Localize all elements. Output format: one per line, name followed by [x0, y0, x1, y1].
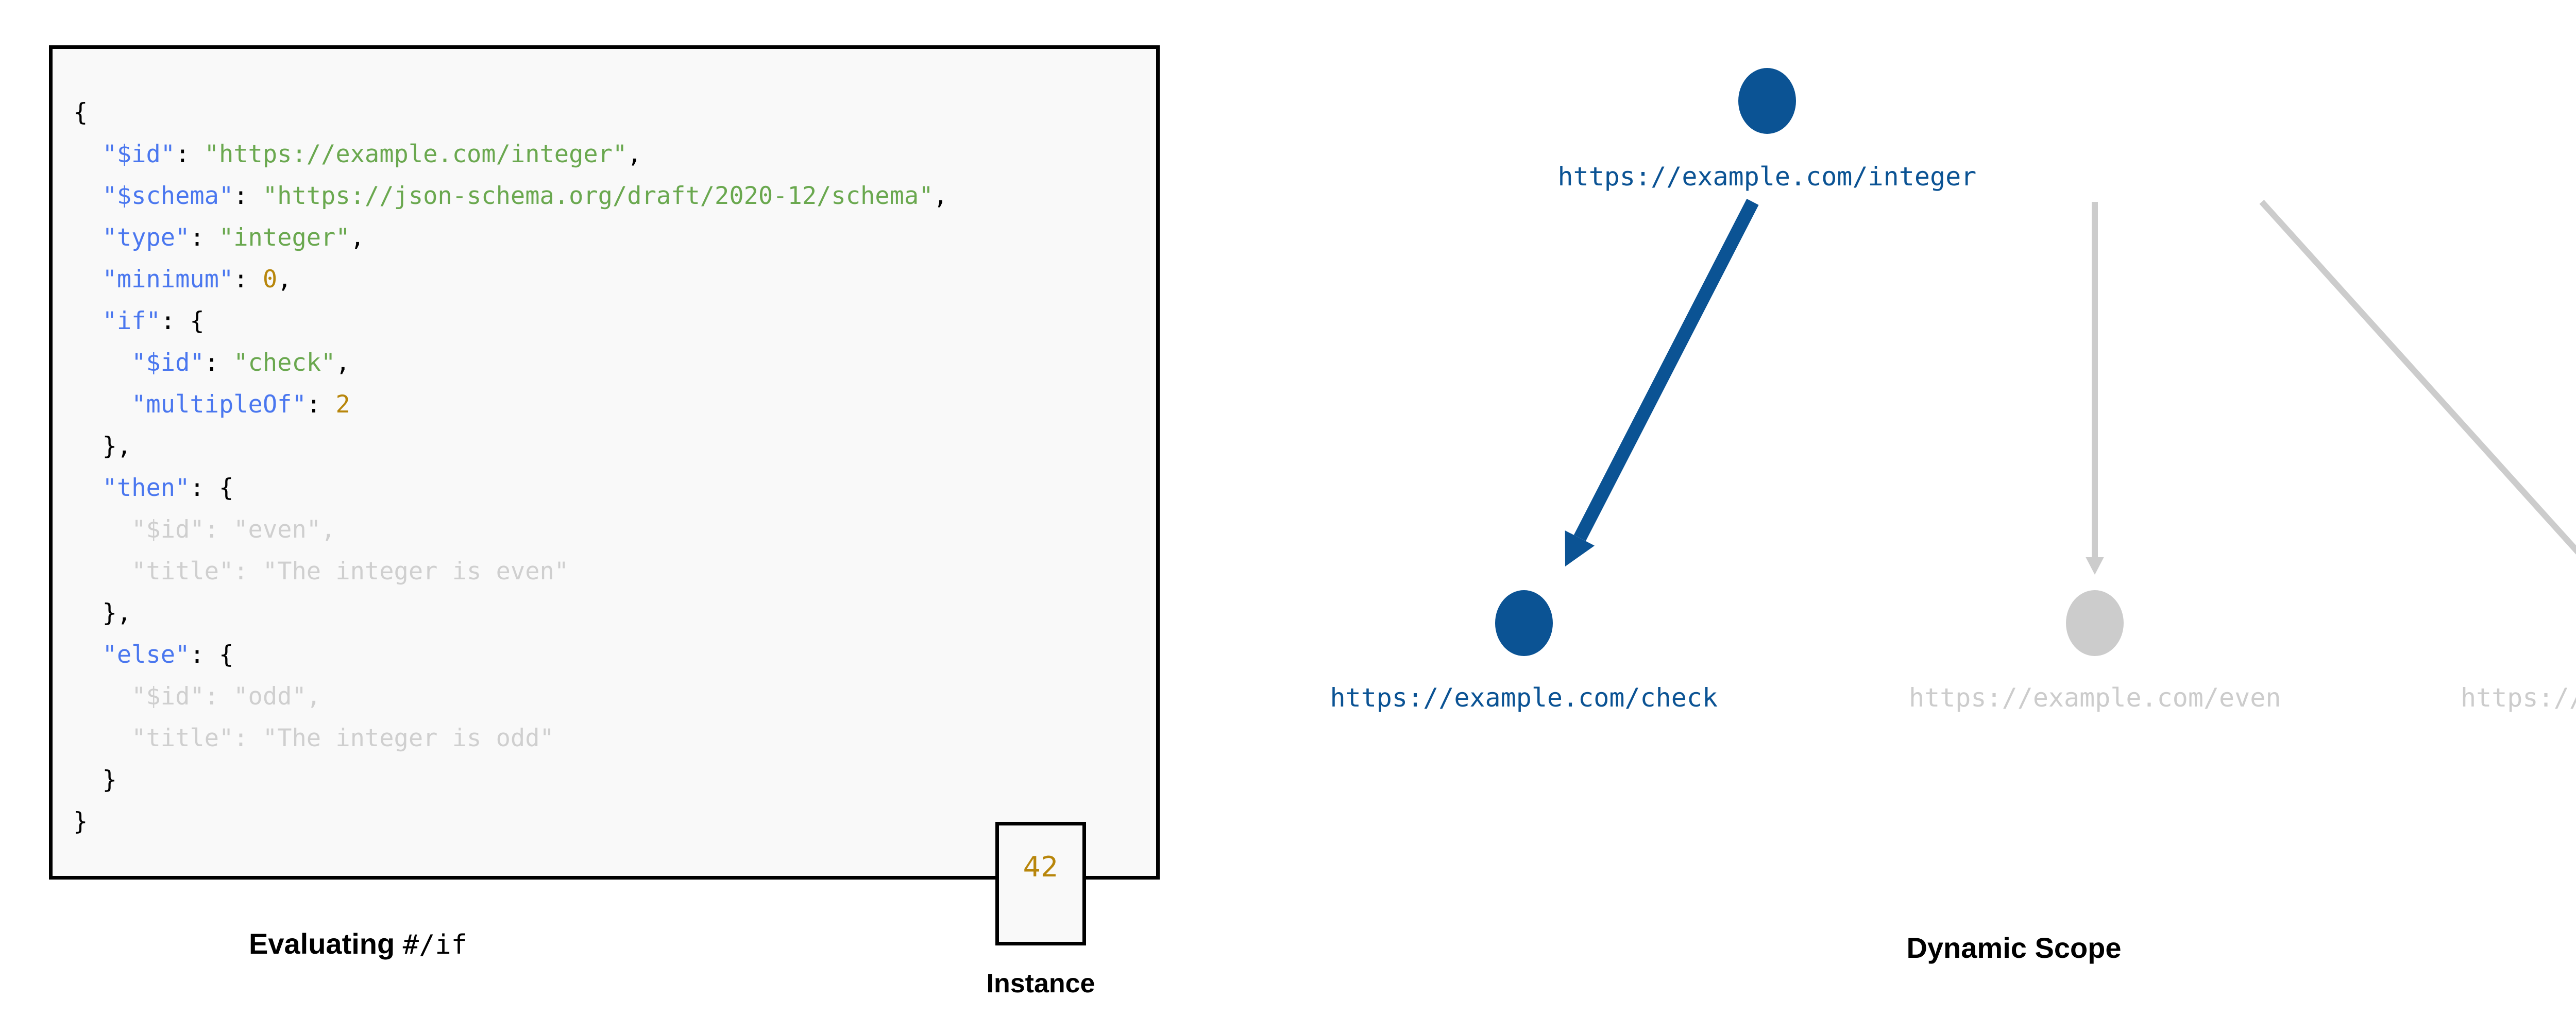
code-token: "type" [103, 223, 190, 252]
instance-value: 42 [999, 853, 1082, 881]
edge-arrowhead-icon [2086, 557, 2104, 575]
edge-shaft [2262, 202, 2576, 559]
code-token: "integer" [219, 223, 350, 252]
code-token: } [73, 807, 88, 836]
code-line: "$id": "check", [73, 342, 948, 384]
code-line: "$id": "even", [73, 509, 948, 550]
code-line: "$id": "odd", [73, 676, 948, 717]
code-token: "https://json-schema.org/draft/2020-12/s… [263, 182, 934, 210]
code-line: "then": { [73, 467, 948, 509]
code-token: "https://example.com/integer" [205, 140, 628, 168]
graph-node-label-integer: https://example.com/integer [1558, 164, 1977, 190]
code-token: , [335, 349, 350, 377]
code-line: }, [73, 425, 948, 467]
code-token: "else" [103, 641, 190, 669]
dynamic-scope-graph [1195, 0, 2576, 906]
schema-code-listing: { "$id": "https://example.com/integer", … [73, 92, 948, 842]
schema-panel: { "$id": "https://example.com/integer", … [0, 0, 1195, 1033]
code-line: "multipleOf": 2 [73, 384, 948, 425]
code-line: "title": "The integer is odd" [73, 717, 948, 759]
code-token: : [175, 140, 205, 168]
code-line: "else": { [73, 634, 948, 676]
code-token: "$id": "odd", [131, 682, 321, 711]
code-token: }, [103, 432, 132, 460]
code-line: "title": "The integer is even" [73, 550, 948, 592]
code-token: : [307, 390, 336, 419]
code-token: "$id": "even", [131, 515, 335, 544]
dynamic-scope-caption: Dynamic Scope [1195, 931, 2576, 965]
code-token: "title": "The integer is even" [131, 557, 569, 586]
graph-node-label-even: https://example.com/even [1909, 685, 2281, 711]
code-line: } [73, 801, 948, 842]
instance-caption: Instance [963, 968, 1118, 999]
graph-node-label-check: https://example.com/check [1330, 685, 1718, 711]
code-line: }, [73, 592, 948, 634]
graph-edge-integer-to-even [2086, 202, 2104, 575]
schema-code-box: { "$id": "https://example.com/integer", … [49, 45, 1160, 880]
code-line: } [73, 759, 948, 801]
code-line: "$schema": "https://json-schema.org/draf… [73, 175, 948, 217]
code-token: { [73, 98, 88, 127]
code-token: , [934, 182, 948, 210]
code-token: } [103, 766, 117, 794]
code-token: 2 [335, 390, 350, 419]
code-token: "multipleOf" [131, 390, 307, 419]
graph-edges [1565, 202, 2576, 575]
code-line: { [73, 92, 948, 133]
code-token: , [627, 140, 641, 168]
code-line: "if": { [73, 300, 948, 342]
graph-edge-integer-to-check [1565, 202, 1753, 566]
edge-shaft [1580, 202, 1753, 538]
code-token: "$id" [103, 140, 175, 168]
instance-box: 42 [995, 822, 1086, 945]
dynamic-scope-panel: https://example.com/integerhttps://examp… [1195, 0, 2576, 1033]
code-token: "minimum" [103, 265, 234, 294]
code-token: , [350, 223, 365, 252]
code-token: : { [190, 474, 233, 502]
code-token: : [233, 265, 263, 294]
code-token: : { [161, 307, 205, 335]
code-line: "$id": "https://example.com/integer", [73, 133, 948, 175]
code-token: : { [190, 641, 233, 669]
code-token: : [233, 182, 263, 210]
code-token: "$schema" [103, 182, 234, 210]
code-token: "title": "The integer is odd" [131, 724, 554, 752]
code-token: "check" [233, 349, 335, 377]
code-line: "type": "integer", [73, 217, 948, 259]
code-token: }, [103, 599, 132, 627]
graph-node-label-odd: https://example.com/odd [2461, 685, 2576, 711]
code-line: "minimum": 0, [73, 259, 948, 300]
graph-node-integer[interactable] [1738, 68, 1796, 134]
code-token: 0 [263, 265, 277, 294]
code-token: "$id" [131, 349, 204, 377]
evaluating-caption: Evaluating #/if [49, 927, 667, 960]
graph-nodes [1495, 68, 2576, 656]
code-token: "if" [103, 307, 161, 335]
code-token: : [190, 223, 219, 252]
code-token: : [205, 349, 234, 377]
graph-node-even[interactable] [2066, 590, 2124, 656]
code-token: "then" [103, 474, 190, 502]
code-token: , [277, 265, 292, 294]
evaluating-caption-label: Evaluating [249, 927, 395, 960]
graph-node-check[interactable] [1495, 590, 1553, 656]
graph-edge-integer-to-odd [2262, 202, 2576, 572]
evaluating-caption-pointer: #/if [403, 929, 467, 960]
